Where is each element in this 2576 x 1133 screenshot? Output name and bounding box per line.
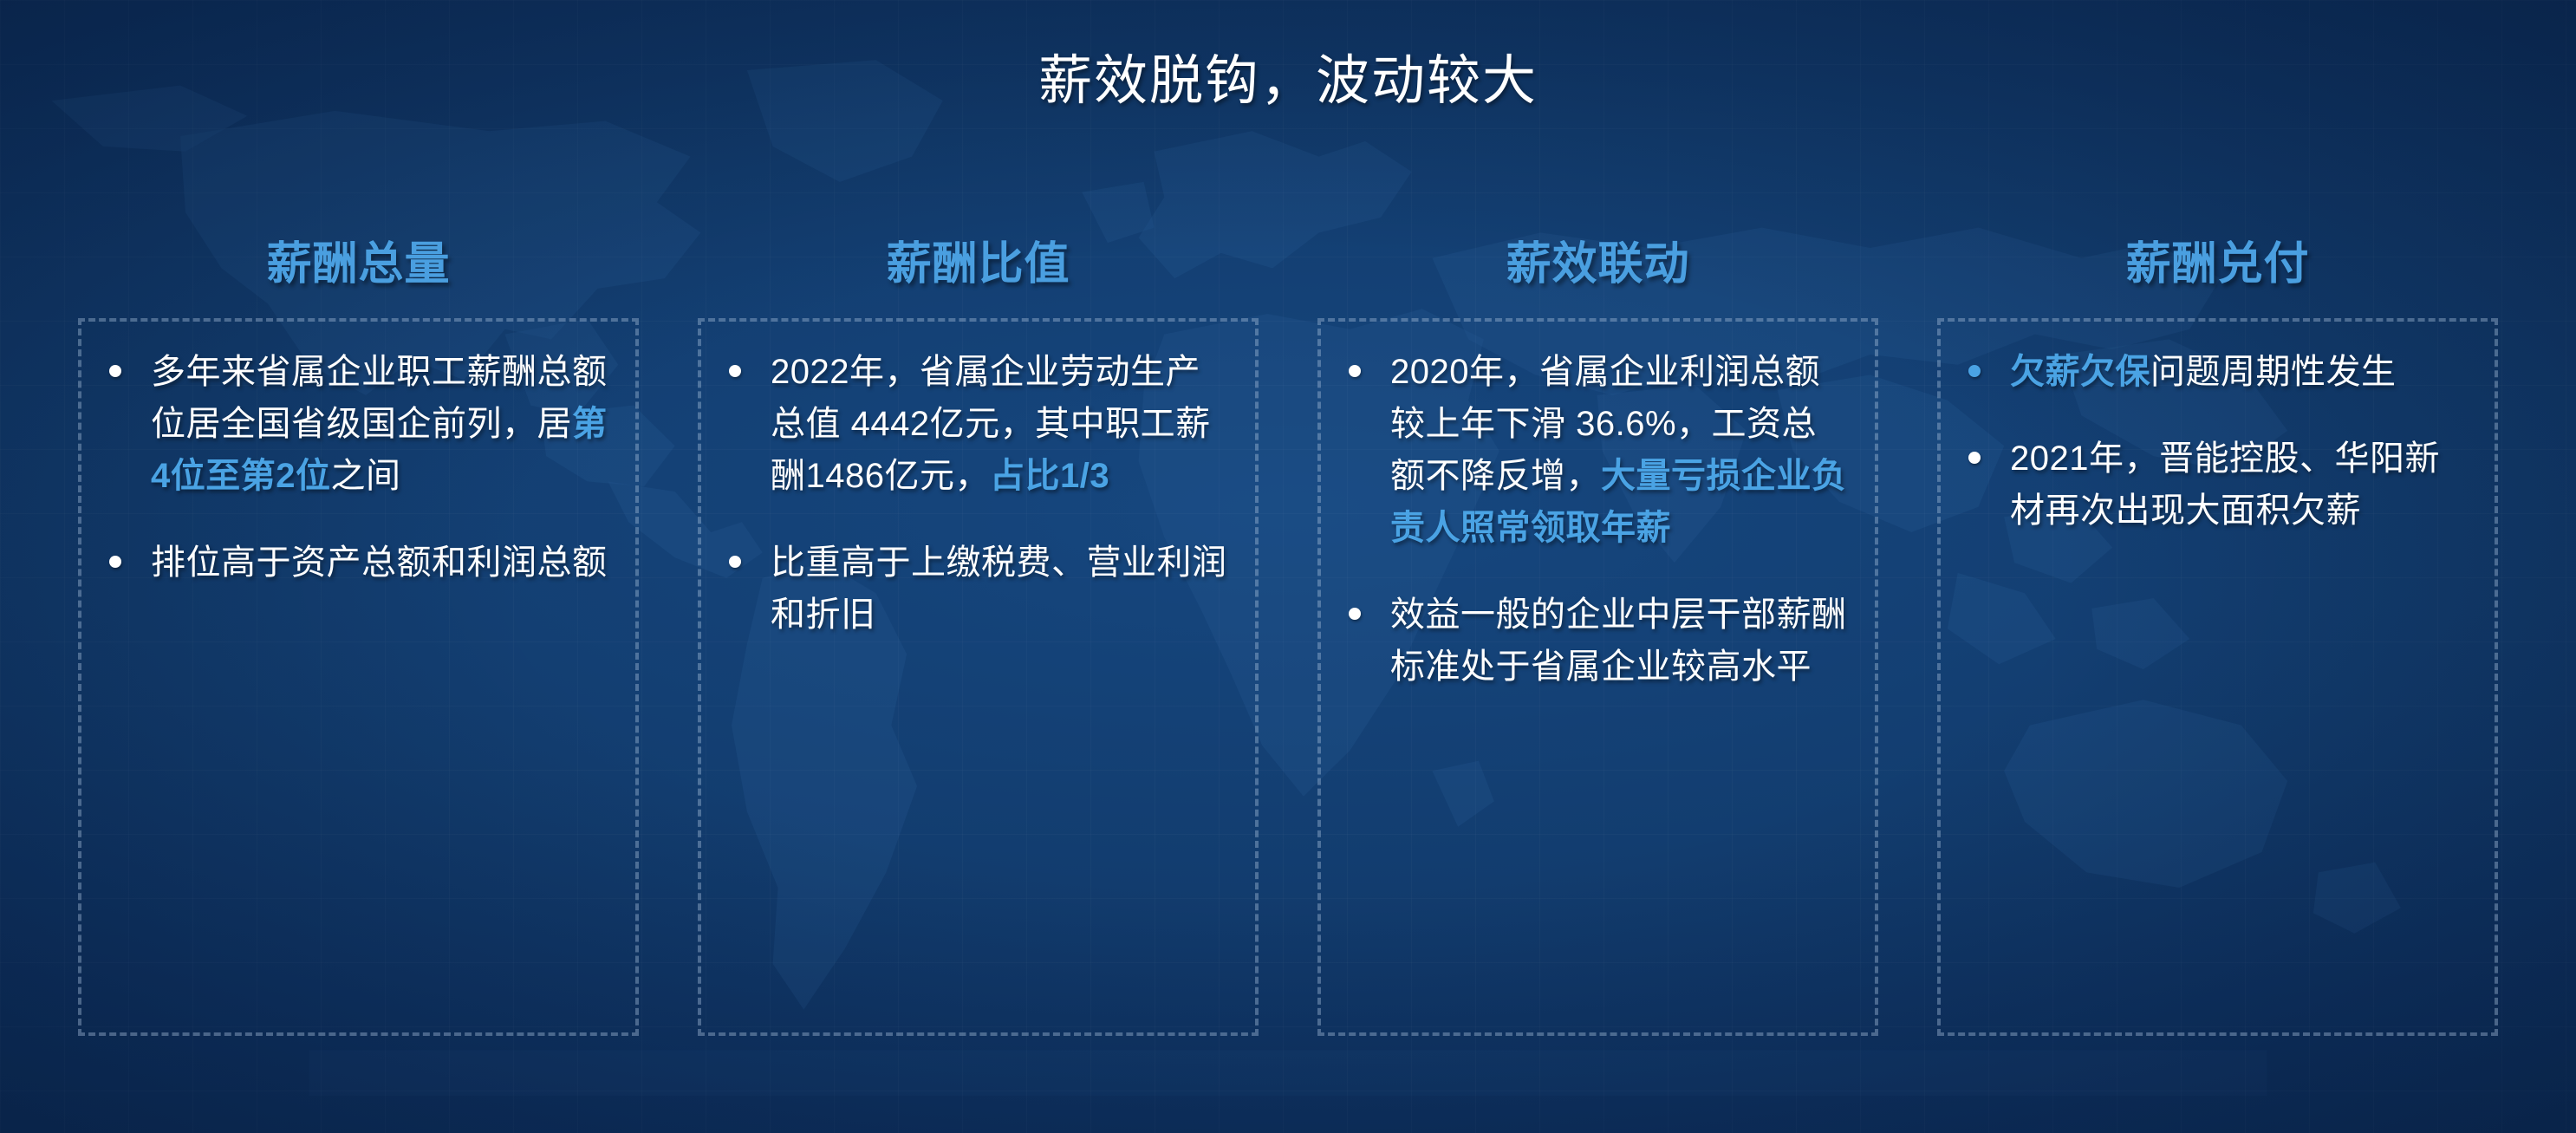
body-text: 效益一般的企业中层干部薪酬标准处于省属企业较高水平 xyxy=(1390,596,1847,686)
list-item: 2020年，省属企业利润总额较上年下滑 36.6%，工资总额不降反增，大量亏损企… xyxy=(1340,346,1849,554)
bullet-list-2: 2022年，省属企业劳动生产总值 4442亿元，其中职工薪酬1486亿元，占比1… xyxy=(720,346,1229,641)
column-header-2: 薪酬比值 xyxy=(698,221,1259,318)
column-box-1: 多年来省属企业职工薪酬总额位居全国省级国企前列，居第4位至第2位之间 排位高于资… xyxy=(78,318,639,1036)
column-header-4: 薪酬兑付 xyxy=(1937,221,2498,318)
bullet-list-1: 多年来省属企业职工薪酬总额位居全国省级国企前列，居第4位至第2位之间 排位高于资… xyxy=(101,346,609,589)
list-item: 2022年，省属企业劳动生产总值 4442亿元，其中职工薪酬1486亿元，占比1… xyxy=(720,346,1229,502)
bullet-list-3: 2020年，省属企业利润总额较上年下滑 36.6%，工资总额不降反增，大量亏损企… xyxy=(1340,346,1849,693)
column-box-2: 2022年，省属企业劳动生产总值 4442亿元，其中职工薪酬1486亿元，占比1… xyxy=(698,318,1259,1036)
column-box-4: 欠薪欠保问题周期性发生 2021年，晋能控股、华阳新材再次出现大面积欠薪 xyxy=(1937,318,2498,1036)
list-item: 2021年，晋能控股、华阳新材再次出现大面积欠薪 xyxy=(1960,433,2469,537)
column-salary-payment: 薪酬兑付 欠薪欠保问题周期性发生 2021年，晋能控股、华阳新材再次出现大面积欠… xyxy=(1937,221,2498,1036)
list-item: 欠薪欠保问题周期性发生 xyxy=(1960,346,2469,398)
column-header-3: 薪效联动 xyxy=(1317,221,1878,318)
highlighted-text: 占比1/3 xyxy=(990,457,1109,495)
slide-canvas: 薪效脱钩，波动较大 薪酬总量 多年来省属企业职工薪酬总额位居全国省级国企前列，居… xyxy=(0,0,2576,1133)
list-item: 排位高于资产总额和利润总额 xyxy=(101,537,609,589)
list-item: 效益一般的企业中层干部薪酬标准处于省属企业较高水平 xyxy=(1340,589,1849,693)
bullet-list-4: 欠薪欠保问题周期性发生 2021年，晋能控股、华阳新材再次出现大面积欠薪 xyxy=(1960,346,2469,537)
list-item: 多年来省属企业职工薪酬总额位居全国省级国企前列，居第4位至第2位之间 xyxy=(101,346,609,502)
column-salary-total: 薪酬总量 多年来省属企业职工薪酬总额位居全国省级国企前列，居第4位至第2位之间 … xyxy=(78,221,639,1036)
body-text: 2021年，晋能控股、华阳新材再次出现大面积欠薪 xyxy=(2010,440,2440,530)
body-text: 排位高于资产总额和利润总额 xyxy=(151,544,608,582)
body-text: 之间 xyxy=(331,457,401,495)
highlighted-text: 欠薪欠保 xyxy=(2010,353,2150,391)
body-text: 问题周期性发生 xyxy=(2150,353,2397,391)
column-salary-ratio: 薪酬比值 2022年，省属企业劳动生产总值 4442亿元，其中职工薪酬1486亿… xyxy=(698,221,1259,1036)
body-text: 多年来省属企业职工薪酬总额位居全国省级国企前列，居 xyxy=(151,353,608,443)
column-box-3: 2020年，省属企业利润总额较上年下滑 36.6%，工资总额不降反增，大量亏损企… xyxy=(1317,318,1878,1036)
column-header-1: 薪酬总量 xyxy=(78,221,639,318)
list-item: 比重高于上缴税费、营业利润和折旧 xyxy=(720,537,1229,641)
body-text: 比重高于上缴税费、营业利润和折旧 xyxy=(771,544,1227,634)
column-pay-performance-link: 薪效联动 2020年，省属企业利润总额较上年下滑 36.6%，工资总额不降反增，… xyxy=(1317,221,1878,1036)
page-title: 薪效脱钩，波动较大 xyxy=(0,36,2576,114)
columns-container: 薪酬总量 多年来省属企业职工薪酬总额位居全国省级国企前列，居第4位至第2位之间 … xyxy=(78,221,2498,1036)
